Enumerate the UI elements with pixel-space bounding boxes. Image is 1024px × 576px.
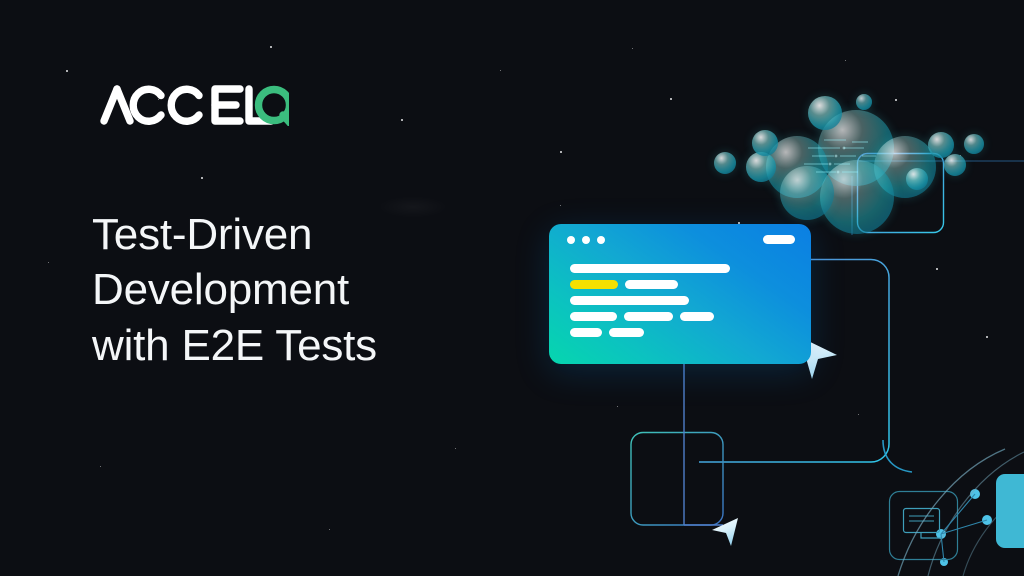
- code-line-row: [570, 264, 795, 273]
- traffic-dot-1: [567, 236, 575, 244]
- outline-square-bottom: [631, 433, 723, 526]
- slide-canvas: Test-Driven Development with E2E Tests: [0, 0, 1024, 576]
- headline-line-2: Development: [92, 262, 512, 317]
- arc-line-1: [898, 449, 1005, 576]
- code-token: [570, 264, 730, 273]
- code-line-row: [570, 296, 795, 305]
- cloud-bubbles: [716, 96, 936, 216]
- code-line-row: [570, 328, 795, 337]
- arc-line-4: [883, 440, 912, 472]
- chip-rect: [996, 474, 1024, 548]
- cloud-circuit-pattern: [716, 96, 936, 216]
- accelq-logo[interactable]: [99, 82, 289, 126]
- code-lines: [570, 264, 795, 344]
- satellite-bubble-7: [856, 94, 872, 110]
- headline-line-1: Test-Driven: [92, 207, 512, 262]
- satellite-bubble-2: [752, 130, 778, 156]
- traffic-dot-2: [582, 236, 590, 244]
- outline-square-monitor: [890, 492, 958, 560]
- window-traffic-dots: [567, 236, 605, 244]
- headline-line-3: with E2E Tests: [92, 318, 512, 373]
- code-window[interactable]: [549, 224, 811, 364]
- code-token-highlighted: [570, 280, 618, 289]
- code-token: [570, 312, 617, 321]
- node-connector: [941, 494, 987, 562]
- traffic-dot-3: [597, 236, 605, 244]
- accelq-wordmark: [99, 82, 289, 126]
- code-line-row: [570, 280, 795, 289]
- page-title: Test-Driven Development with E2E Tests: [92, 207, 512, 373]
- satellite-bubble-1: [714, 152, 736, 174]
- code-token: [570, 328, 602, 337]
- satellite-bubble-6: [944, 154, 966, 176]
- code-token: [624, 312, 673, 321]
- satellite-bubble-5: [906, 168, 928, 190]
- code-token: [680, 312, 714, 321]
- cursor-arrow-secondary: [712, 518, 738, 546]
- window-pill: [763, 235, 795, 244]
- satellite-bubble-4: [964, 134, 984, 154]
- code-token: [625, 280, 678, 289]
- code-token: [570, 296, 689, 305]
- code-line-row: [570, 312, 795, 321]
- code-token: [609, 328, 644, 337]
